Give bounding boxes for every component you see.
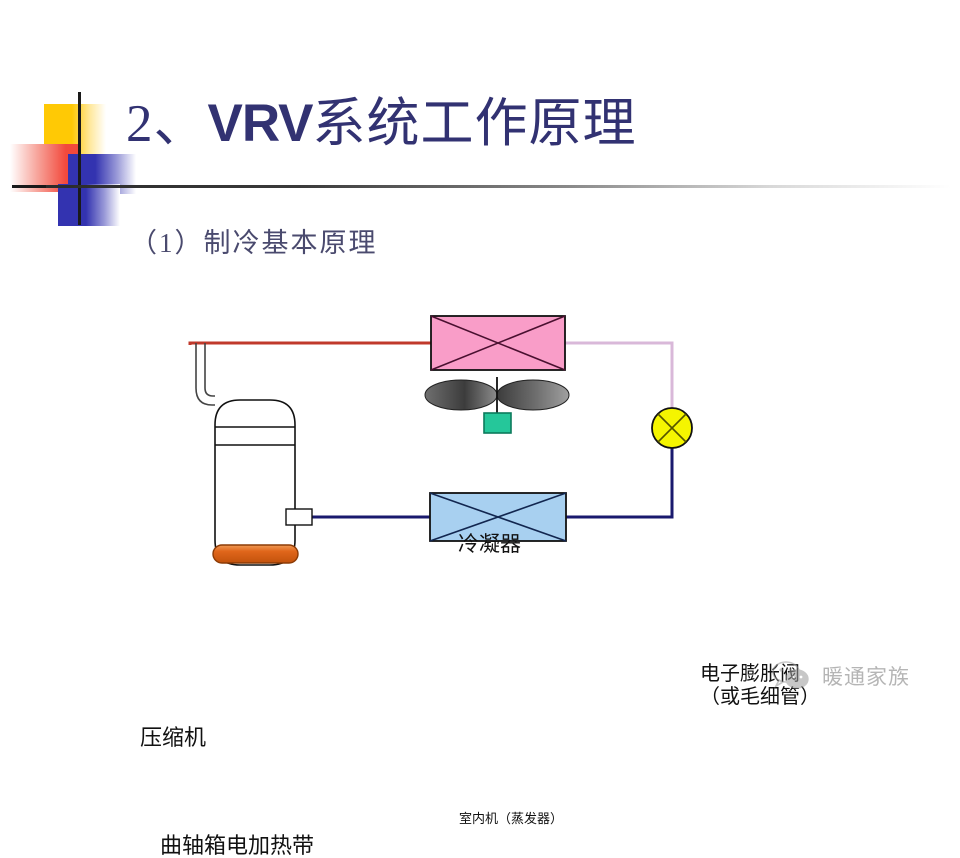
wechat-bubbles-icon [770,660,814,692]
compressor-label: 压缩机 [140,725,206,750]
page-title-number: 2、 [126,95,208,153]
watermark-text: 暖通家族 [822,661,910,691]
compressor-discharge-pipe-inner [205,343,215,396]
page-title-latin: VRV [208,94,313,153]
deco-vertical-line [78,92,81,225]
compressor-suction-port [286,509,312,525]
slide-canvas: 2、VRV系统工作原理 （1）制冷基本原理 [0,0,960,720]
condenser-label: 冷凝器 [458,533,521,557]
page-title: 2、VRV系统工作原理 [126,97,637,151]
condenser-fan [425,377,569,433]
crankcase-heater-label: 曲轴箱电加热带 [160,833,314,858]
title-underline-rule [46,185,951,188]
deco-square-blue-lower [58,184,120,226]
compressor-body [215,400,295,565]
fan-blade-right [497,380,569,410]
refrigeration-cycle-diagram: 冷凝器 压缩机 曲轴箱电加热带 室内机（蒸发器） 电子膨胀阀 （或毛细管） [0,255,960,655]
fan-motor [484,413,511,433]
page-title-rest: 系统工作原理 [313,95,637,153]
evaporator-label: 室内机（蒸发器） [459,812,563,827]
fan-blade-left [425,380,497,410]
condenser-unit [431,316,565,370]
crankcase-heater-band [213,545,298,563]
discharge-line [190,343,432,345]
watermark: 暖通家族 [770,655,950,697]
expansion-valve [652,408,692,448]
liquid-line [565,343,672,415]
suction-line-valve-to-evaporator [565,441,672,517]
